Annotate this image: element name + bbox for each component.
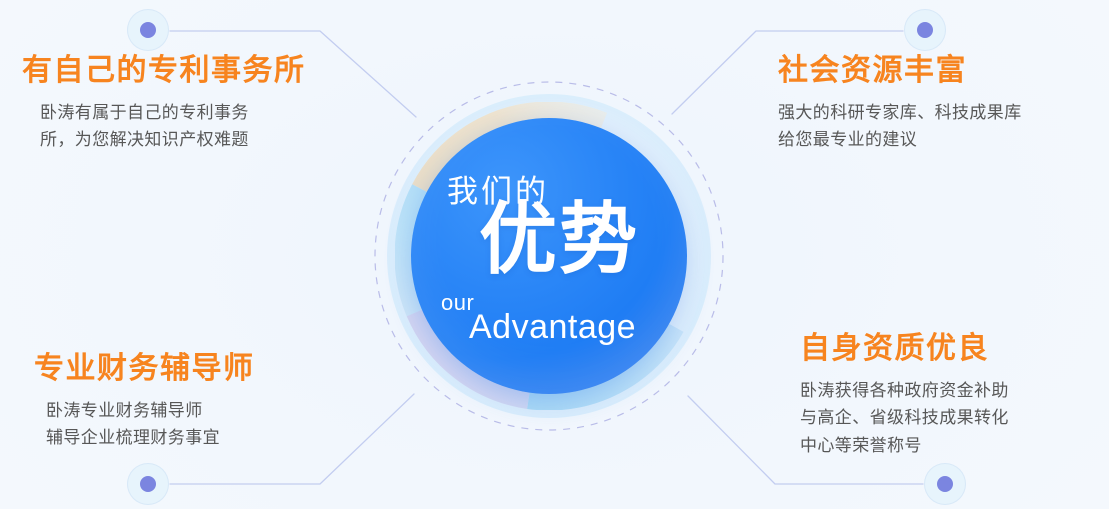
node-dot-icon xyxy=(917,22,933,38)
feature-heading: 专业财务辅导师 xyxy=(34,352,255,387)
feature-heading: 社会资源丰富 xyxy=(778,54,1022,89)
node-dot-icon xyxy=(937,476,953,492)
feature-heading: 自身资质优良 xyxy=(800,332,1009,367)
center-title-large: 优势 xyxy=(479,200,639,278)
node-top-left[interactable] xyxy=(127,9,169,51)
feature-bottom-left: 专业财务辅导师 卧涛专业财务辅导师 辅导企业梳理财务事宜 xyxy=(34,352,255,452)
feature-top-right: 社会资源丰富 强大的科研专家库、科技成果库 给您最专业的建议 xyxy=(778,54,1022,154)
advantage-infographic: 有自己的专利事务所 卧涛有属于自己的专利事务 所，为您解决知识产权难题 社会资源… xyxy=(0,0,1109,509)
center-graphic: 我们的 优势 our Advantage xyxy=(373,80,725,432)
feature-bottom-right: 自身资质优良 卧涛获得各种政府资金补助 与高企、省级科技成果转化 中心等荣誉称号 xyxy=(800,332,1009,459)
center-text-group: 我们的 优势 our Advantage xyxy=(411,118,687,394)
node-top-right[interactable] xyxy=(904,9,946,51)
feature-heading: 有自己的专利事务所 xyxy=(22,54,306,89)
feature-body: 卧涛获得各种政府资金补助 与高企、省级科技成果转化 中心等荣誉称号 xyxy=(800,377,1009,460)
center-subtitle-advantage: Advantage xyxy=(469,308,636,347)
node-bottom-right[interactable] xyxy=(924,463,966,505)
node-dot-icon xyxy=(140,22,156,38)
feature-body: 强大的科研专家库、科技成果库 给您最专业的建议 xyxy=(778,99,1022,154)
node-bottom-left[interactable] xyxy=(127,463,169,505)
feature-body: 卧涛有属于自己的专利事务 所，为您解决知识产权难题 xyxy=(40,99,306,154)
feature-body: 卧涛专业财务辅导师 辅导企业梳理财务事宜 xyxy=(46,397,255,452)
node-dot-icon xyxy=(140,476,156,492)
feature-top-left: 有自己的专利事务所 卧涛有属于自己的专利事务 所，为您解决知识产权难题 xyxy=(22,54,306,154)
